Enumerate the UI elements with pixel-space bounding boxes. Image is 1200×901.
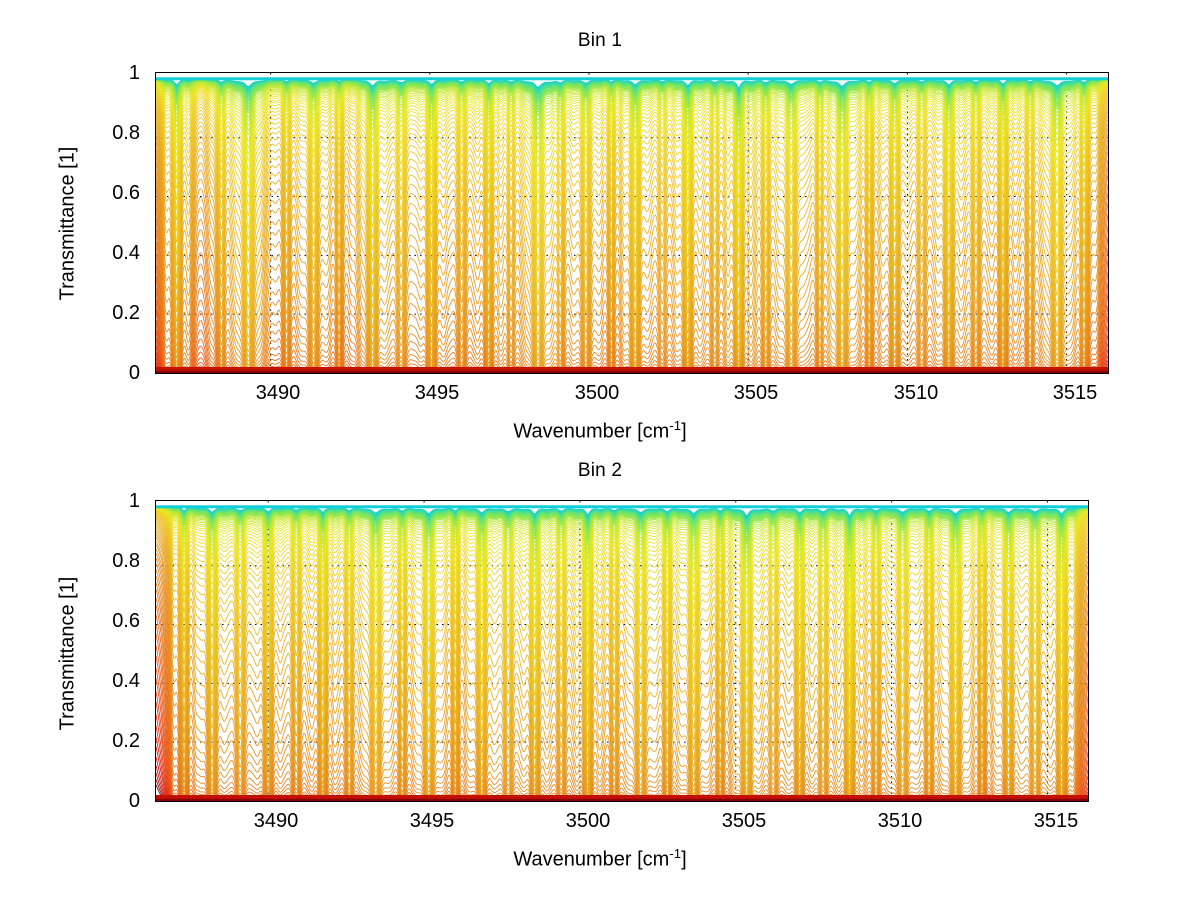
panel-1-x-axis-label-tail: ] (681, 421, 687, 443)
panel-1-ytick-0p2: 0.2 (90, 303, 140, 323)
panel-2-y-axis-label: Transmittance [1] (57, 524, 80, 784)
panel-1-xtick-3490: 3490 (238, 383, 318, 403)
unity-transmittance-band (156, 505, 1088, 508)
panel-1-ytick-0p4: 0.4 (90, 243, 140, 263)
panel-1-xtick-3500: 3500 (557, 383, 637, 403)
panel-2-ytick-0p6: 0.6 (90, 611, 140, 631)
panel-1-x-axis-label: Wavenumber [cm-1] (0, 418, 1200, 444)
panel-1-plot-area (155, 72, 1109, 374)
spectroscopy-figure: Bin 1 Transmittance [1] 1 0.8 0.6 0.4 0.… (0, 0, 1200, 901)
panel-1-xtick-3510: 3510 (876, 383, 956, 403)
panel-2-xtick-3515: 3515 (1016, 811, 1096, 831)
panel-2-xtick-3490: 3490 (236, 811, 316, 831)
panel-2-ytick-1: 1 (90, 491, 140, 511)
panel-2-ytick-0p8: 0.8 (90, 551, 140, 571)
panel-1-ytick-0p6: 0.6 (90, 183, 140, 203)
panel-2-xtick-3510: 3510 (860, 811, 940, 831)
panel-2-spectra-canvas (156, 501, 1088, 801)
panel-2-title: Bin 2 (0, 460, 1200, 482)
panel-2-x-axis-label-main: Wavenumber [cm (513, 849, 669, 871)
panel-2-plot-area (155, 500, 1089, 802)
saturated-floor-band-dark (156, 799, 1088, 801)
panel-2-ytick-0p4: 0.4 (90, 671, 140, 691)
panel-2-xtick-3495: 3495 (392, 811, 472, 831)
spectrum-curve (156, 511, 1088, 672)
panel-1-xtick-3495: 3495 (397, 383, 477, 403)
panel-1-y-axis-label: Transmittance [1] (57, 94, 80, 354)
panel-2-xtick-3500: 3500 (548, 811, 628, 831)
panel-bin-2: Bin 2 Transmittance [1] 1 0.8 0.6 0.4 0.… (0, 450, 1200, 901)
panel-1-spectra-canvas (156, 73, 1108, 373)
panel-2-ytick-0: 0 (90, 791, 140, 811)
panel-1-x-axis-label-main: Wavenumber [cm (513, 421, 669, 443)
panel-1-ytick-0p8: 0.8 (90, 123, 140, 143)
panel-2-x-axis-label-exponent: -1 (669, 846, 681, 861)
panel-bin-1: Bin 1 Transmittance [1] 1 0.8 0.6 0.4 0.… (0, 0, 1200, 450)
spectra-series (156, 79, 1108, 372)
unity-transmittance-band (156, 77, 1108, 80)
panel-1-x-axis-label-exponent: -1 (669, 418, 681, 433)
panel-2-x-axis-label: Wavenumber [cm-1] (0, 846, 1200, 872)
spectra-series (156, 507, 1088, 801)
panel-1-ytick-0: 0 (90, 363, 140, 383)
saturated-floor-band-dark (156, 371, 1108, 373)
panel-2-ytick-0p2: 0.2 (90, 731, 140, 751)
panel-1-ytick-1: 1 (90, 63, 140, 83)
panel-2-x-axis-label-tail: ] (681, 849, 687, 871)
panel-1-xtick-3505: 3505 (716, 383, 796, 403)
panel-1-title: Bin 1 (0, 30, 1200, 52)
panel-2-xtick-3505: 3505 (704, 811, 784, 831)
panel-1-xtick-3515: 3515 (1035, 383, 1115, 403)
